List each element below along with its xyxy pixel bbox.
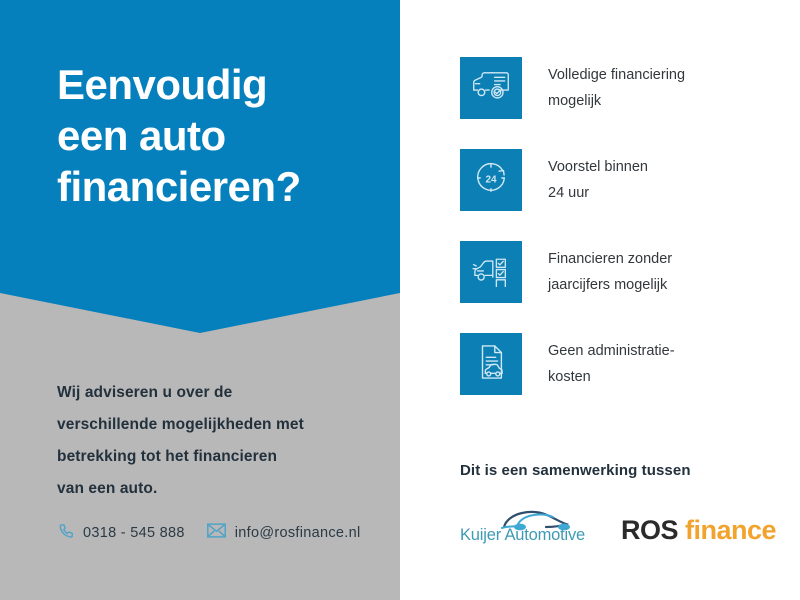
kuijer-automotive-text: Kuijer Automotive bbox=[460, 526, 585, 545]
feature-icon-tile bbox=[460, 57, 522, 119]
feature-icon-tile bbox=[460, 241, 522, 303]
feature-label-line-2: 24 uur bbox=[548, 180, 758, 206]
feature-label: Financieren zonder jaarcijfers mogelijk bbox=[548, 246, 758, 299]
partner-logos: Kuijer Automotive ROS finance bbox=[460, 506, 780, 548]
headline-line-1: Eenvoudig bbox=[57, 59, 387, 110]
kuijer-automotive-logo[interactable]: Kuijer Automotive bbox=[460, 506, 596, 548]
promo-poster: Eenvoudig een auto financieren? Wij advi… bbox=[0, 0, 800, 600]
feature-label: Volledige financiering mogelijk bbox=[548, 62, 758, 115]
phone-icon bbox=[57, 522, 74, 544]
left-panel: Eenvoudig een auto financieren? Wij advi… bbox=[0, 0, 400, 600]
svg-text:24: 24 bbox=[485, 174, 497, 185]
headline-line-2: een auto bbox=[57, 110, 387, 161]
intro-line-2: verschillende mogelijkheden met bbox=[57, 409, 367, 441]
feature-icon-tile bbox=[460, 333, 522, 395]
page-title: Eenvoudig een auto financieren? bbox=[57, 59, 387, 213]
feature-item-24h-proposal: 24 Voorstel binnen 24 uur bbox=[460, 149, 758, 211]
feature-label-line-2: jaarcijfers mogelijk bbox=[548, 272, 758, 298]
headline-line-3: financieren? bbox=[57, 161, 387, 212]
contact-row: 0318 - 545 888 info@rosfinance.nl bbox=[57, 522, 360, 544]
finance-word: finance bbox=[685, 515, 776, 546]
feature-item-full-financing: Volledige financiering mogelijk bbox=[460, 57, 758, 119]
contact-phone[interactable]: 0318 - 545 888 bbox=[57, 522, 185, 544]
phone-number: 0318 - 545 888 bbox=[83, 525, 185, 541]
feature-label-line-1: Geen administratie- bbox=[548, 338, 758, 364]
feature-label-line-2: mogelijk bbox=[548, 88, 758, 114]
feature-label: Voorstel binnen 24 uur bbox=[548, 154, 758, 207]
contact-email[interactable]: info@rosfinance.nl bbox=[207, 523, 361, 543]
ros-finance-logo[interactable]: ROS finance bbox=[621, 515, 776, 548]
feature-label-line-1: Volledige financiering bbox=[548, 62, 758, 88]
intro-line-3: betrekking tot het financieren bbox=[57, 441, 367, 473]
feature-item-no-annual-figures: Financieren zonder jaarcijfers mogelijk bbox=[460, 241, 758, 303]
partner-title: Dit is een samenwerking tussen bbox=[460, 462, 780, 479]
right-panel: Volledige financiering mogelijk 24 bbox=[400, 0, 800, 600]
feature-item-no-admin-costs: Geen administratie- kosten bbox=[460, 333, 758, 395]
feature-list: Volledige financiering mogelijk 24 bbox=[460, 57, 758, 395]
clock-24-hour-icon: 24 bbox=[472, 159, 510, 202]
feature-label: Geen administratie- kosten bbox=[548, 338, 758, 391]
email-address: info@rosfinance.nl bbox=[235, 525, 361, 541]
feature-label-line-1: Voorstel binnen bbox=[548, 154, 758, 180]
ros-word: ROS bbox=[621, 515, 678, 546]
car-checklist-icon bbox=[471, 253, 511, 292]
feature-icon-tile: 24 bbox=[460, 149, 522, 211]
intro-line-4: van een auto. bbox=[57, 473, 367, 505]
intro-line-1: Wij adviseren u over de bbox=[57, 377, 367, 409]
feature-label-line-2: kosten bbox=[548, 364, 758, 390]
feature-label-line-1: Financieren zonder bbox=[548, 246, 758, 272]
intro-paragraph: Wij adviseren u over de verschillende mo… bbox=[57, 377, 367, 505]
document-car-icon bbox=[474, 343, 508, 386]
partner-block: Dit is een samenwerking tussen Kuijer Au… bbox=[460, 462, 780, 548]
delivery-van-document-check-icon bbox=[471, 69, 511, 107]
envelope-icon bbox=[207, 523, 226, 543]
